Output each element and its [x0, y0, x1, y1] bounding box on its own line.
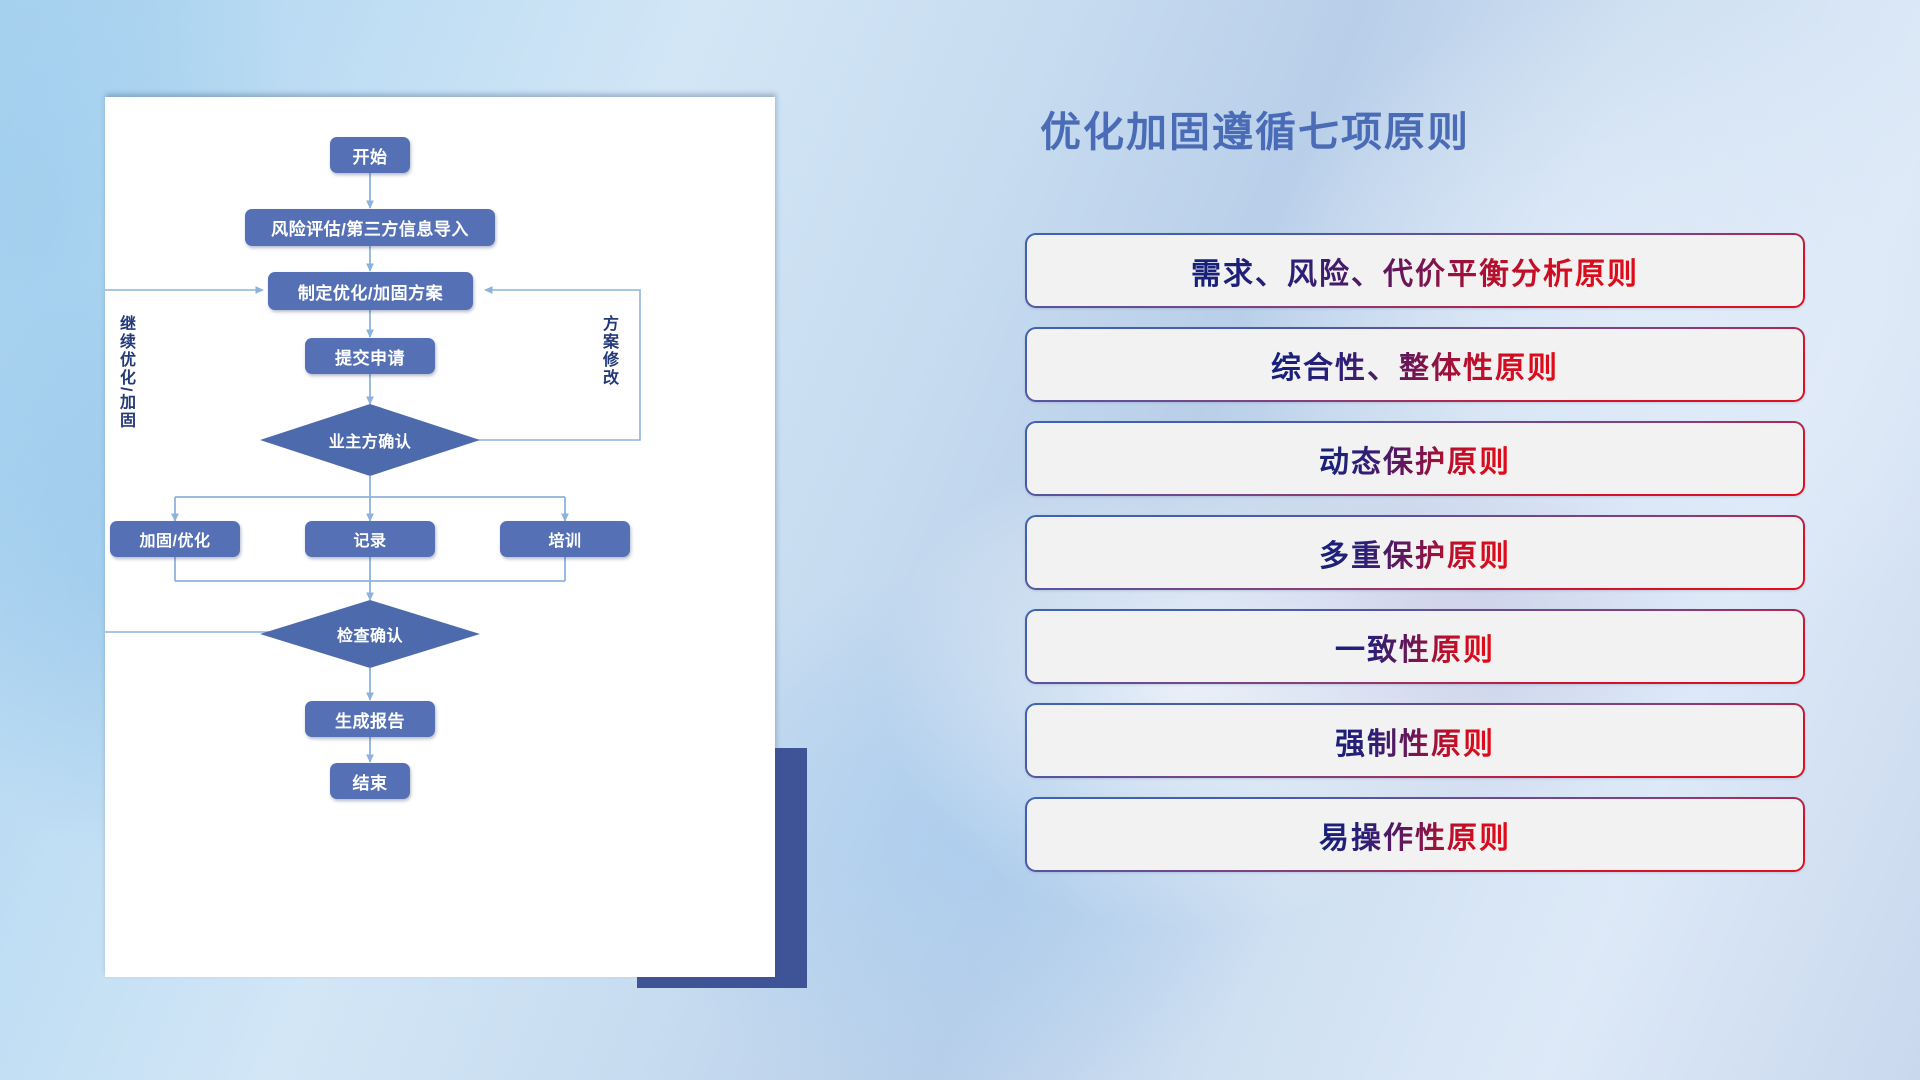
- principle-card[interactable]: 易操作性原则: [1025, 797, 1805, 872]
- principle-card[interactable]: 一致性原则: [1025, 609, 1805, 684]
- flow-node-training[interactable]: 培训: [500, 521, 630, 557]
- principle-card-inner: 多重保护原则: [1027, 517, 1803, 588]
- flow-node-record[interactable]: 记录: [305, 521, 435, 557]
- principle-label: 一致性原则: [1335, 625, 1495, 669]
- flow-node-risk-assessment[interactable]: 风险评估/第三方信息导入: [245, 209, 495, 246]
- principle-card-inner: 动态保护原则: [1027, 423, 1803, 494]
- principle-card-inner: 综合性、整体性原则: [1027, 329, 1803, 400]
- principles-title: 优化加固遵循七项原则: [1040, 98, 1470, 158]
- principle-card-inner: 一致性原则: [1027, 611, 1803, 682]
- principle-label: 多重保护原则: [1319, 531, 1511, 575]
- principle-card-inner: 易操作性原则: [1027, 799, 1803, 870]
- flow-node-owner-confirm[interactable]: 业主方确认: [260, 404, 480, 476]
- flowchart-card: 开始 风险评估/第三方信息导入 制定优化/加固方案 提交申请 业主方确认 加固/…: [105, 97, 775, 977]
- principle-label: 需求、风险、代价平衡分析原则: [1191, 249, 1639, 293]
- flow-node-check-confirm[interactable]: 检查确认: [260, 600, 480, 668]
- principle-card-inner: 需求、风险、代价平衡分析原则: [1027, 235, 1803, 306]
- principle-label: 动态保护原则: [1319, 437, 1511, 481]
- flow-node-start[interactable]: 开始: [330, 137, 410, 173]
- flow-node-reinforce[interactable]: 加固/优化: [110, 521, 240, 557]
- principles-list: 需求、风险、代价平衡分析原则 综合性、整体性原则 动态保护原则 多重保护原则 一…: [1025, 233, 1805, 891]
- flowchart-panel: 开始 风险评估/第三方信息导入 制定优化/加固方案 提交申请 业主方确认 加固/…: [0, 0, 900, 1080]
- principle-card[interactable]: 综合性、整体性原则: [1025, 327, 1805, 402]
- principle-card[interactable]: 动态保护原则: [1025, 421, 1805, 496]
- principle-label: 强制性原则: [1335, 719, 1495, 763]
- principles-panel: 优化加固遵循七项原则 需求、风险、代价平衡分析原则 综合性、整体性原则 动态保护…: [900, 0, 1920, 1080]
- flow-node-generate-report[interactable]: 生成报告: [305, 701, 435, 737]
- principle-card[interactable]: 强制性原则: [1025, 703, 1805, 778]
- principle-card[interactable]: 多重保护原则: [1025, 515, 1805, 590]
- flow-node-end[interactable]: 结束: [330, 763, 410, 799]
- principle-card[interactable]: 需求、风险、代价平衡分析原则: [1025, 233, 1805, 308]
- principle-card-inner: 强制性原则: [1027, 705, 1803, 776]
- flow-node-submit-application[interactable]: 提交申请: [305, 338, 435, 374]
- principle-label: 综合性、整体性原则: [1271, 343, 1559, 387]
- edge-label-continue-optimize: 继续优化/加固: [117, 315, 133, 429]
- principle-label: 易操作性原则: [1319, 813, 1511, 857]
- edge-label-plan-revision: 方案修改: [600, 315, 616, 387]
- flow-node-make-plan[interactable]: 制定优化/加固方案: [268, 272, 473, 310]
